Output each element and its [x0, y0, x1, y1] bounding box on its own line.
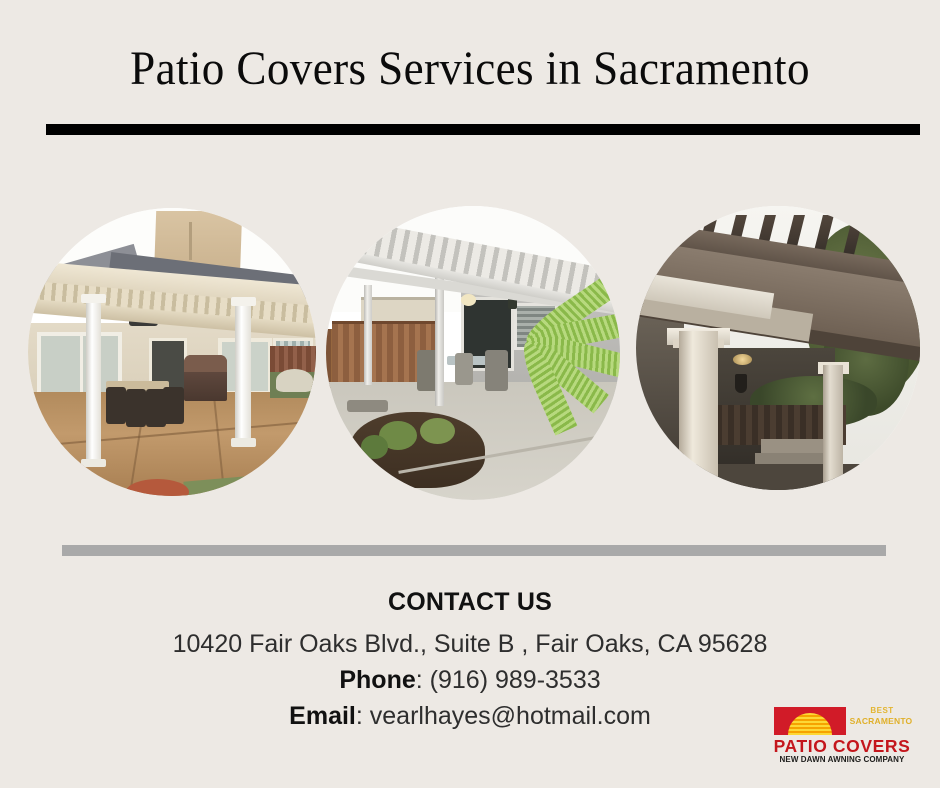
photo-1-artwork — [28, 208, 316, 496]
email-separator: : — [356, 702, 370, 730]
logo-name: PATIO COVERS — [772, 736, 912, 757]
patio-light — [461, 294, 476, 306]
phone-value[interactable]: (916) 989-3533 — [430, 666, 601, 694]
logo-tagline-top: BEST — [852, 706, 912, 716]
phone-separator: : — [416, 666, 430, 694]
flyer-canvas: Patio Covers Services in Sacramento — [0, 0, 940, 788]
photo-3-artwork — [636, 206, 920, 490]
sun-dome-shape — [788, 713, 832, 735]
patio-chair — [126, 389, 146, 426]
cover-post-far — [364, 285, 372, 385]
logo-company: NEW DAWN AWNING COMPANY — [772, 755, 912, 764]
shrub — [361, 435, 387, 459]
phone-label: Phone — [339, 666, 415, 694]
stone-bench — [347, 400, 388, 412]
gable-vent — [189, 222, 192, 259]
email-label: Email — [289, 702, 356, 730]
photo-2-artwork — [326, 206, 620, 500]
palm-plant — [502, 282, 620, 453]
pendant-light — [735, 374, 746, 394]
grill-lid — [184, 355, 227, 372]
contact-heading: CONTACT US — [0, 588, 940, 617]
section-divider-rule — [62, 545, 886, 556]
photo-circle-solid-cover — [636, 206, 920, 490]
column-left — [679, 331, 719, 490]
company-logo[interactable]: BEST SACRAMENTO PATIO COVERS NEW DAWN AW… — [772, 705, 912, 765]
logo-tagline-bottom: SACRAMENTO — [848, 716, 914, 726]
patio-chair — [455, 353, 473, 385]
email-value[interactable]: vearlhayes@hotmail.com — [370, 702, 651, 730]
rafter-tail — [843, 215, 864, 255]
cover-post-near — [435, 277, 444, 406]
photo-circle-patio-lattice — [28, 208, 316, 496]
column-right — [823, 365, 843, 490]
contact-phone: Phone: (916) 989-3533 — [0, 662, 940, 698]
contact-address: 10420 Fair Oaks Blvd., Suite B , Fair Oa… — [0, 626, 940, 662]
ornamental-grass — [276, 369, 313, 392]
patio-chair — [106, 387, 126, 424]
patio-chair — [163, 387, 183, 424]
photo-circle-patio-palm — [326, 206, 620, 500]
sunrise-icon — [774, 707, 846, 735]
column-left — [86, 294, 102, 467]
column-right — [235, 297, 251, 447]
